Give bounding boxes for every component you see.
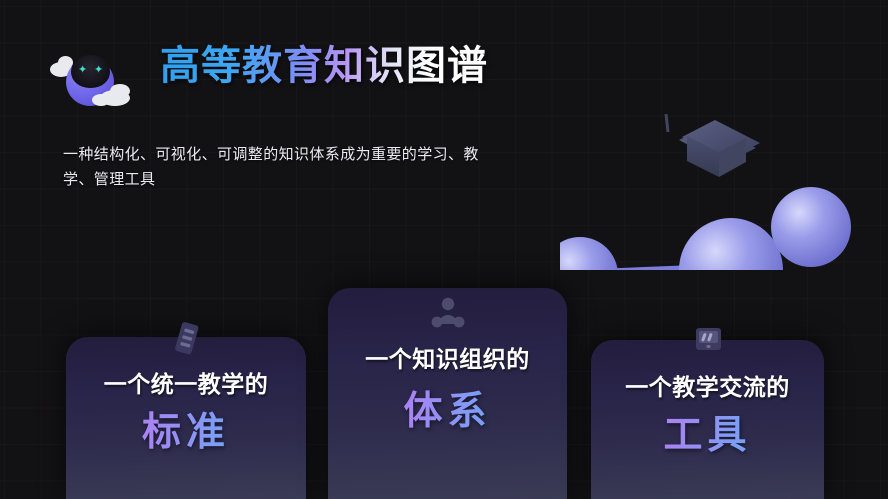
page-subtitle: 一种结构化、可视化、可调整的知识体系成为重要的学习、教学、管理工具: [63, 142, 493, 192]
knowledge-graph-illustration: [560, 70, 888, 270]
graph-node-center: [679, 218, 783, 270]
card-title-line1: 一个统一教学的: [66, 365, 306, 399]
card-keyword: 标准: [66, 401, 306, 457]
graph-node-left: [560, 237, 618, 270]
card-tool[interactable]: 一个教学交流的 工具: [591, 340, 824, 499]
mascot-face: [71, 55, 110, 88]
document-list-icon: [166, 321, 206, 357]
card-system[interactable]: 一个知识组织的 体系: [328, 288, 567, 499]
mascot-logo: ✦ ✦: [42, 46, 150, 120]
graph-svg: [560, 70, 888, 270]
cloud-icon: [110, 84, 130, 98]
card-keyword: 体系: [328, 380, 567, 436]
graph-node-right: [771, 187, 851, 267]
card-keyword: 工具: [591, 404, 824, 460]
slide-canvas: ✦ ✦ 高等教育知识图谱 一种结构化、可视化、可调整的知识体系成为重要的学习、教…: [0, 0, 888, 499]
card-title-line1: 一个知识组织的: [328, 340, 567, 374]
card-standard[interactable]: 一个统一教学的 标准: [66, 337, 306, 499]
sparkle-eye-icon: ✦: [94, 66, 103, 75]
people-group-icon: [428, 296, 468, 332]
graduation-cap-icon: [666, 114, 760, 177]
card-title-line1: 一个教学交流的: [591, 368, 824, 402]
page-title: 高等教育知识图谱: [160, 40, 488, 92]
sparkle-eye-icon: ✦: [78, 66, 87, 75]
monitor-screen-icon: [688, 324, 728, 360]
